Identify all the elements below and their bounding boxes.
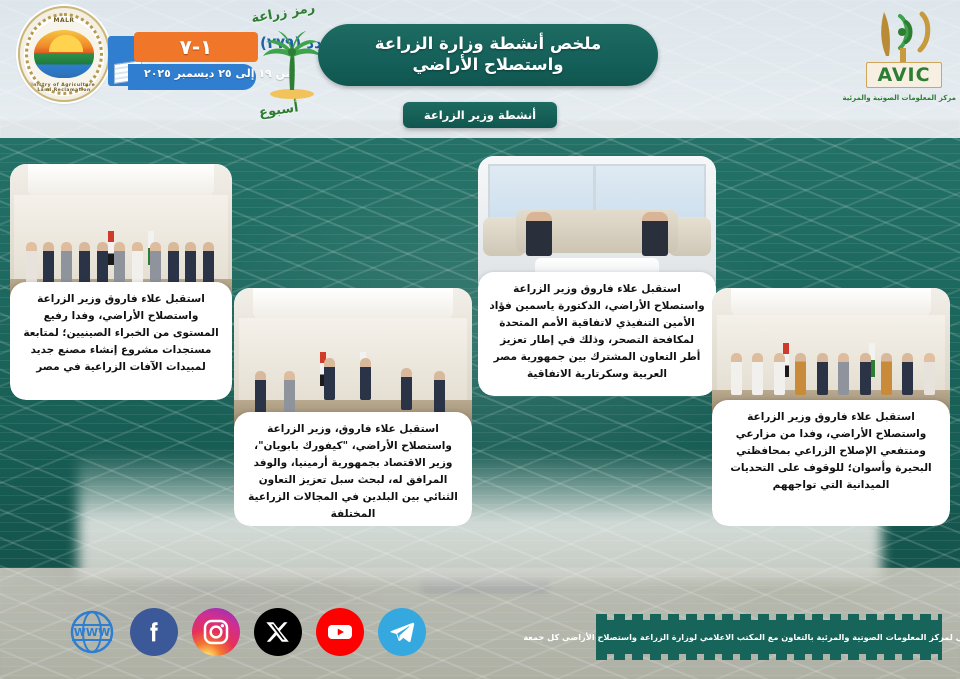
- ministry-seal-icon: MALR Ministry of Agriculture & Land Recl…: [18, 6, 110, 102]
- avic-wordmark-text: AVIC: [877, 64, 930, 86]
- page-title-text: ملخص أنشطة وزارة الزراعة واستصلاح الأراض…: [334, 34, 642, 75]
- news-card-caption: استقبل علاء فاروق وزير الزراعة واستصلاح …: [712, 400, 950, 526]
- facebook-icon[interactable]: [130, 608, 178, 656]
- facebook-glyph-icon: [140, 618, 168, 646]
- photo-meeting-unccd: [478, 156, 716, 284]
- news-card[interactable]: استقبل علاء فاروق، وزير الزراعة واستصلاح…: [234, 288, 472, 526]
- avic-logo: AVIC مركز المعلومات الصوتية والمرئية: [856, 4, 952, 114]
- photo-person: [97, 242, 108, 284]
- photo-person: [79, 242, 90, 284]
- photo-person: [26, 242, 37, 284]
- photo-person: [434, 371, 445, 413]
- photo-person: [255, 371, 266, 413]
- x-glyph-icon: [265, 619, 291, 645]
- section-subtitle-text: أنشطة وزير الزراعة: [424, 108, 536, 122]
- photo-flag-egypt: [108, 231, 114, 265]
- photo-meeting-armenia: [234, 288, 472, 424]
- photo-person: [860, 353, 871, 395]
- photo-person: [924, 353, 935, 395]
- photo-wall: [239, 318, 468, 402]
- seal-bottom-text: Ministry of Agriculture & Land Reclamati…: [20, 83, 108, 93]
- youtube-icon[interactable]: [316, 608, 364, 656]
- news-card-photo: [478, 156, 716, 284]
- photo-person: [795, 353, 806, 395]
- header: MALR Ministry of Agriculture & Land Recl…: [0, 0, 960, 140]
- news-card-caption-text: استقبل علاء فاروق وزير الزراعة واستصلاح …: [723, 409, 939, 494]
- photo-person: [168, 242, 179, 284]
- x-twitter-icon[interactable]: [254, 608, 302, 656]
- telegram-glyph-icon: [388, 618, 416, 646]
- poster-root: MALR Ministry of Agriculture & Land Recl…: [0, 0, 960, 679]
- footer-banner: اصدار اسبوعي لمركز المعلومات الصوتية وال…: [596, 620, 942, 654]
- telegram-icon[interactable]: [378, 608, 426, 656]
- palm-top-text: رمز زراعة: [250, 1, 316, 27]
- website-icon[interactable]: WWW: [68, 608, 116, 656]
- avic-caption: مركز المعلومات الصوتية والمرئية: [852, 94, 956, 102]
- photo-person: [774, 353, 785, 395]
- photo-person: [752, 353, 763, 395]
- news-card[interactable]: استقبل علاء فاروق وزير الزراعة واستصلاح …: [10, 164, 232, 400]
- photo-person: [150, 242, 161, 284]
- photo-person: [61, 242, 72, 284]
- footer-text: اصدار اسبوعي لمركز المعلومات الصوتية وال…: [596, 620, 942, 654]
- seal-top-text: MALR: [20, 17, 108, 24]
- photo-person: [203, 242, 214, 284]
- news-card-caption: استقبل علاء فاروق وزير الزراعة واستصلاح …: [478, 272, 716, 396]
- avic-mark-icon: [856, 4, 952, 66]
- social-links: WWW: [68, 608, 438, 664]
- photo-person: [132, 242, 143, 284]
- news-card-caption: استقبل علاء فاروق، وزير الزراعة واستصلاح…: [234, 412, 472, 526]
- photo-person: [401, 368, 412, 410]
- palm-tree-icon: [259, 30, 325, 100]
- globe-icon: WWW: [69, 609, 115, 655]
- issue-block: ١-٧ العدد (٢٧٩) من ١٩ إلى ٢٥ ديسمبر ٢٠٢٥: [108, 28, 258, 94]
- page-title: ملخص أنشطة وزارة الزراعة واستصلاح الأراض…: [318, 24, 658, 86]
- photo-group-farmers: [712, 288, 950, 412]
- news-card-caption-text: استقبل علاء فاروق، وزير الزراعة واستصلاح…: [245, 421, 461, 523]
- page-range-badge: ١-٧: [134, 32, 258, 62]
- news-card-photo: [234, 288, 472, 424]
- palm-bottom-text: أسبوع: [258, 100, 299, 120]
- news-card[interactable]: استقبل علاء فاروق وزير الزراعة واستصلاح …: [712, 288, 950, 526]
- svg-text:WWW: WWW: [74, 626, 110, 639]
- news-card-photo: [712, 288, 950, 412]
- page-range-text: ١-٧: [180, 35, 213, 59]
- photo-person: [284, 371, 295, 413]
- photo-person: [902, 353, 913, 395]
- photo-person: [324, 358, 335, 400]
- photo-person: [817, 353, 828, 395]
- photo-person: [731, 353, 742, 395]
- photo-person: [114, 242, 125, 284]
- avic-wordmark: AVIC: [866, 62, 942, 88]
- photo-person: [838, 353, 849, 395]
- instagram-glyph-icon: [201, 617, 231, 647]
- instagram-icon[interactable]: [192, 608, 240, 656]
- photo-person: [881, 353, 892, 395]
- news-card-caption: استقبل علاء فاروق وزير الزراعة واستصلاح …: [10, 282, 232, 400]
- news-card[interactable]: استقبل علاء فاروق وزير الزراعة واستصلاح …: [478, 156, 716, 396]
- news-card-caption-text: استقبل علاء فاروق وزير الزراعة واستصلاح …: [21, 291, 221, 376]
- news-card-caption-text: استقبل علاء فاروق وزير الزراعة واستصلاح …: [489, 281, 705, 383]
- youtube-glyph-icon: [325, 617, 355, 647]
- photo-person: [360, 358, 371, 400]
- photo-person: [43, 242, 54, 284]
- section-subtitle: أنشطة وزير الزراعة: [403, 102, 557, 128]
- seal-sun: [46, 32, 86, 52]
- photo-person: [642, 212, 668, 256]
- photo-person: [185, 242, 196, 284]
- photo-person: [526, 212, 552, 256]
